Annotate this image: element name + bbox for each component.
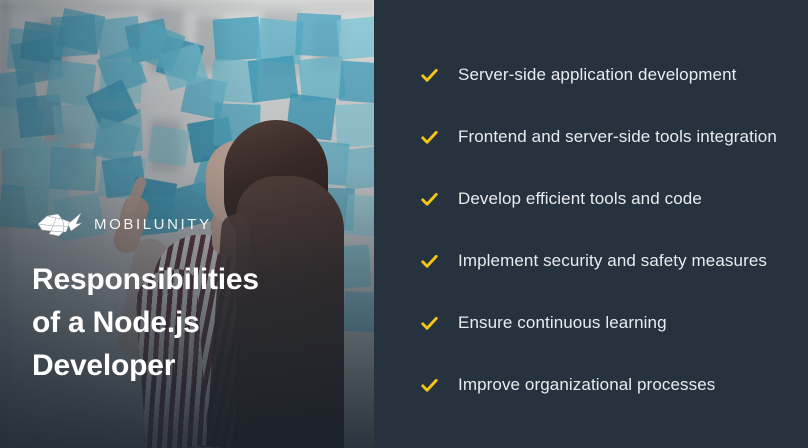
check-icon	[420, 128, 439, 147]
check-icon	[420, 376, 439, 395]
list-item-label: Server-side application development	[458, 65, 737, 85]
list-item-label: Ensure continuous learning	[458, 313, 667, 333]
list-item-label: Frontend and server-side tools integrati…	[458, 127, 777, 147]
list-item: Improve organizational processes	[374, 354, 808, 416]
hero-photo-panel: MOBILUNITY Responsibilities of a Node.js…	[0, 0, 374, 448]
check-icon	[420, 190, 439, 209]
check-icon	[420, 66, 439, 85]
page-title: Responsibilities of a Node.js Developer	[32, 258, 352, 387]
page-title-line-3: Developer	[32, 344, 352, 387]
list-item: Frontend and server-side tools integrati…	[374, 106, 808, 168]
responsibilities-panel: Server-side application development Fron…	[374, 0, 808, 448]
page-title-line-1: Responsibilities	[32, 258, 352, 301]
list-item-label: Improve organizational processes	[458, 375, 715, 395]
list-item-label: Develop efficient tools and code	[458, 189, 702, 209]
brand-logo[interactable]: MOBILUNITY	[36, 209, 212, 240]
list-item: Ensure continuous learning	[374, 292, 808, 354]
responsibilities-card: MOBILUNITY Responsibilities of a Node.js…	[0, 0, 808, 448]
list-item: Server-side application development	[374, 44, 808, 106]
check-icon	[420, 252, 439, 271]
list-item-label: Implement security and safety measures	[458, 251, 767, 271]
responsibilities-list: Server-side application development Fron…	[374, 44, 808, 416]
list-item: Develop efficient tools and code	[374, 168, 808, 230]
list-item: Implement security and safety measures	[374, 230, 808, 292]
brand-wordmark: MOBILUNITY	[94, 216, 212, 233]
check-icon	[420, 314, 439, 333]
page-title-line-2: of a Node.js	[32, 301, 352, 344]
whale-icon	[36, 209, 83, 240]
